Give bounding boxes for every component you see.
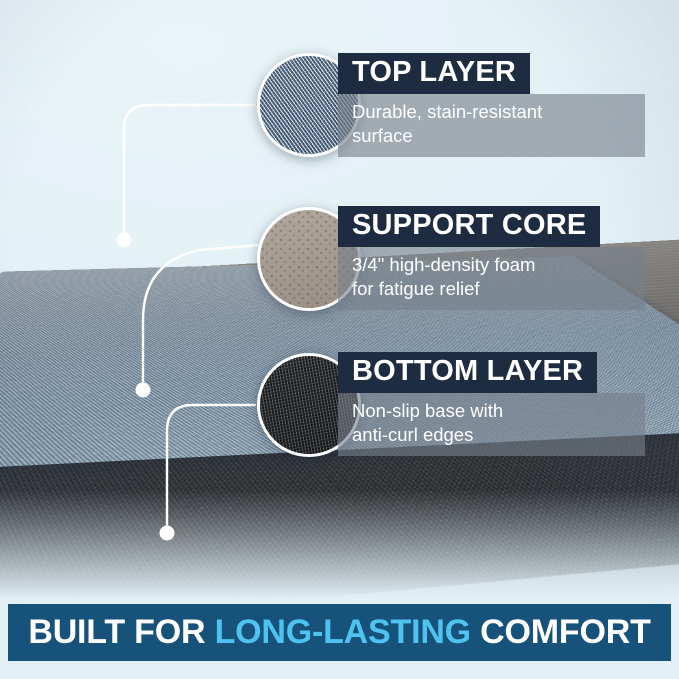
callout-support-core-desc-line1: 3/4" high-density foam: [352, 253, 631, 277]
callout-top-layer-body: Durable, stain-resistant surface: [338, 94, 645, 157]
callout-top-layer-desc-line2: surface: [352, 124, 631, 148]
callout-bottom-layer-header: BOTTOM LAYER: [338, 352, 597, 393]
callout-bottom-layer-title: BOTTOM LAYER: [352, 357, 583, 386]
banner-text-before: BUILT FOR: [28, 613, 214, 651]
banner-text-accent: LONG-LASTING: [215, 613, 471, 651]
callout-top-layer-desc-line1: Durable, stain-resistant: [352, 100, 631, 124]
callout-bottom-layer-desc-line1: Non-slip base with: [352, 399, 631, 423]
callout-bottom-layer-body: Non-slip base with anti-curl edges: [338, 393, 645, 456]
callout-support-core-body: 3/4" high-density foam for fatigue relie…: [338, 247, 645, 310]
bottom-banner-text: BUILT FOR LONG-LASTING COMFORT: [28, 613, 650, 652]
banner-text-after: COMFORT: [471, 613, 651, 651]
callout-bottom-layer: BOTTOM LAYER Non-slip base with anti-cur…: [338, 352, 645, 456]
callout-top-layer-title: TOP LAYER: [352, 58, 516, 87]
callout-support-core: SUPPORT CORE 3/4" high-density foam for …: [338, 206, 645, 310]
bottom-banner: BUILT FOR LONG-LASTING COMFORT: [8, 604, 671, 661]
infographic-canvas: TOP LAYER Durable, stain-resistant surfa…: [0, 0, 679, 679]
callout-top-layer-header: TOP LAYER: [338, 53, 530, 94]
callout-support-core-desc-line2: for fatigue relief: [352, 277, 631, 301]
callout-support-core-header: SUPPORT CORE: [338, 206, 600, 247]
callout-support-core-title: SUPPORT CORE: [352, 211, 586, 240]
callout-top-layer: TOP LAYER Durable, stain-resistant surfa…: [338, 53, 645, 157]
callout-bottom-layer-desc-line2: anti-curl edges: [352, 423, 631, 447]
